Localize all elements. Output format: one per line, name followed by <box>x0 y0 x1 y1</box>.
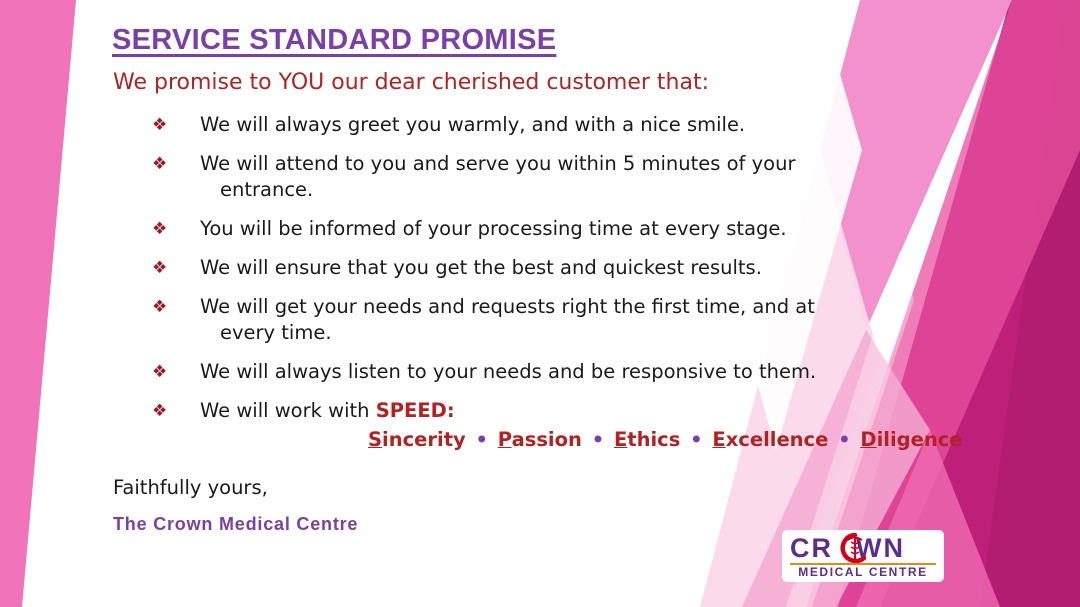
speed-lead-text: We will work with <box>200 399 376 422</box>
list-item: ❖ We will always greet you warmly, and w… <box>150 112 850 138</box>
closing-text: Faithfully yours, <box>113 476 268 499</box>
diamond-bullet-icon: ❖ <box>150 151 200 177</box>
logo-subtitle: MEDICAL CENTRE <box>790 565 936 579</box>
speed-value-rest: thics <box>627 428 680 451</box>
speed-value-initial: S <box>368 428 382 451</box>
speed-value-rest: assion <box>512 428 582 451</box>
list-item-text: We will always listen to your needs and … <box>200 359 850 385</box>
list-item-text: We will always greet you warmly, and wit… <box>200 112 850 138</box>
list-item-text: You will be informed of your processing … <box>200 216 850 242</box>
speed-value-rest: iligence <box>877 428 963 451</box>
speed-value-initial: D <box>860 428 876 451</box>
speed-separator-dot: • <box>680 428 712 451</box>
diamond-bullet-icon: ❖ <box>150 255 200 281</box>
list-item: ❖ We will always listen to your needs an… <box>150 359 850 385</box>
speed-value-rest: xcellence <box>726 428 829 451</box>
list-item-text: We will attend to you and serve you with… <box>200 151 850 203</box>
diamond-bullet-icon: ❖ <box>150 294 200 320</box>
subtitle-line: We promise to YOU our dear cherished cus… <box>113 70 709 95</box>
diamond-bullet-icon: ❖ <box>150 359 200 385</box>
list-item-line-1: We will get your needs and requests righ… <box>200 295 815 318</box>
speed-value: Diligence <box>860 428 962 451</box>
list-item-line-1: We will attend to you and serve you with… <box>200 152 795 175</box>
speed-item-text: We will work with SPEED:Sincerity • Pass… <box>200 398 962 453</box>
signature-text: The Crown Medical Centre <box>113 514 358 535</box>
list-item: ❖ We will get your needs and requests ri… <box>150 294 850 346</box>
list-item: ❖ You will be informed of your processin… <box>150 216 850 242</box>
speed-separator-dot: • <box>466 428 498 451</box>
speed-value-initial: E <box>614 428 627 451</box>
caduceus-emblem-icon <box>837 531 873 567</box>
list-item-line-2: every time. <box>200 320 850 346</box>
speed-value: Excellence <box>712 428 828 451</box>
diamond-bullet-icon: ❖ <box>150 216 200 242</box>
list-item: ❖ We will ensure that you get the best a… <box>150 255 850 281</box>
speed-values-line: Sincerity • Passion • Ethics • Excellenc… <box>200 427 962 453</box>
right-facet-dark-edge <box>980 0 1080 607</box>
speed-value-initial: E <box>712 428 725 451</box>
page-title: SERVICE STANDARD PROMISE <box>112 24 556 57</box>
crown-medical-centre-logo: CROWN MEDICAL CENTRE <box>782 530 944 582</box>
slide-canvas: SERVICE STANDARD PROMISE We promise to Y… <box>0 0 1080 607</box>
diamond-bullet-icon: ❖ <box>150 398 200 424</box>
logo-word-before: CR <box>790 533 833 563</box>
speed-value-rest: incerity <box>382 428 466 451</box>
list-item-text: We will ensure that you get the best and… <box>200 255 850 281</box>
speed-keyword: SPEED: <box>376 399 455 422</box>
list-item-text: We will get your needs and requests righ… <box>200 294 850 346</box>
speed-value: Passion <box>498 428 582 451</box>
list-item: ❖ We will attend to you and serve you wi… <box>150 151 850 203</box>
speed-separator-dot: • <box>828 428 860 451</box>
diamond-bullet-icon: ❖ <box>150 112 200 138</box>
speed-value-initial: P <box>498 428 512 451</box>
list-item-line-2: entrance. <box>200 177 850 203</box>
speed-value: Sincerity <box>368 428 466 451</box>
list-item-speed: ❖ We will work with SPEED:Sincerity • Pa… <box>150 398 850 453</box>
slide-content: SERVICE STANDARD PROMISE We promise to Y… <box>0 0 880 607</box>
promise-list: ❖ We will always greet you warmly, and w… <box>150 112 850 466</box>
speed-value: Ethics <box>614 428 680 451</box>
speed-separator-dot: • <box>582 428 614 451</box>
